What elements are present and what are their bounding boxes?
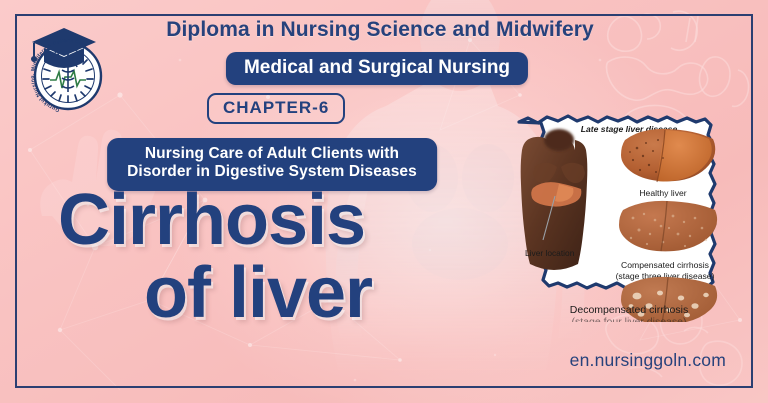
subject-badge: Medical and Surgical Nursing bbox=[226, 52, 528, 85]
topic-line-2: Disorder in Digestive System Diseases bbox=[127, 163, 417, 180]
stage-sublabel-2: (stage four liver disease) bbox=[513, 316, 745, 322]
gurukul-nursing-logo: Gurukul Nursing, Midwifery & Patient Car… bbox=[24, 22, 112, 114]
torso-label: Liver location bbox=[525, 248, 575, 258]
page-title: Cirrhosis of liver bbox=[58, 186, 518, 328]
website-url[interactable]: en.nursinggoln.com bbox=[570, 350, 726, 371]
program-title: Diploma in Nursing Science and Midwifery bbox=[140, 18, 620, 42]
stage-label-0: Healthy liver bbox=[639, 188, 686, 198]
slide-canvas: Gurukul Nursing, Midwifery & Patient Car… bbox=[0, 0, 768, 403]
page-title-line-2: of liver bbox=[144, 259, 518, 328]
liver-disease-illustration: Late stage liver disease Liver location bbox=[513, 110, 745, 322]
stage-label-2: Decompensated cirrhosis bbox=[513, 304, 745, 316]
page-title-line-1: Cirrhosis bbox=[58, 186, 518, 255]
stage-labels-2-overflow: Decompensated cirrhosis (stage four live… bbox=[513, 304, 745, 322]
stage-label-1: Compensated cirrhosis bbox=[621, 260, 709, 270]
chapter-badge: CHAPTER-6 bbox=[207, 93, 345, 124]
topic-line-1: Nursing Care of Adult Clients with bbox=[145, 145, 399, 162]
